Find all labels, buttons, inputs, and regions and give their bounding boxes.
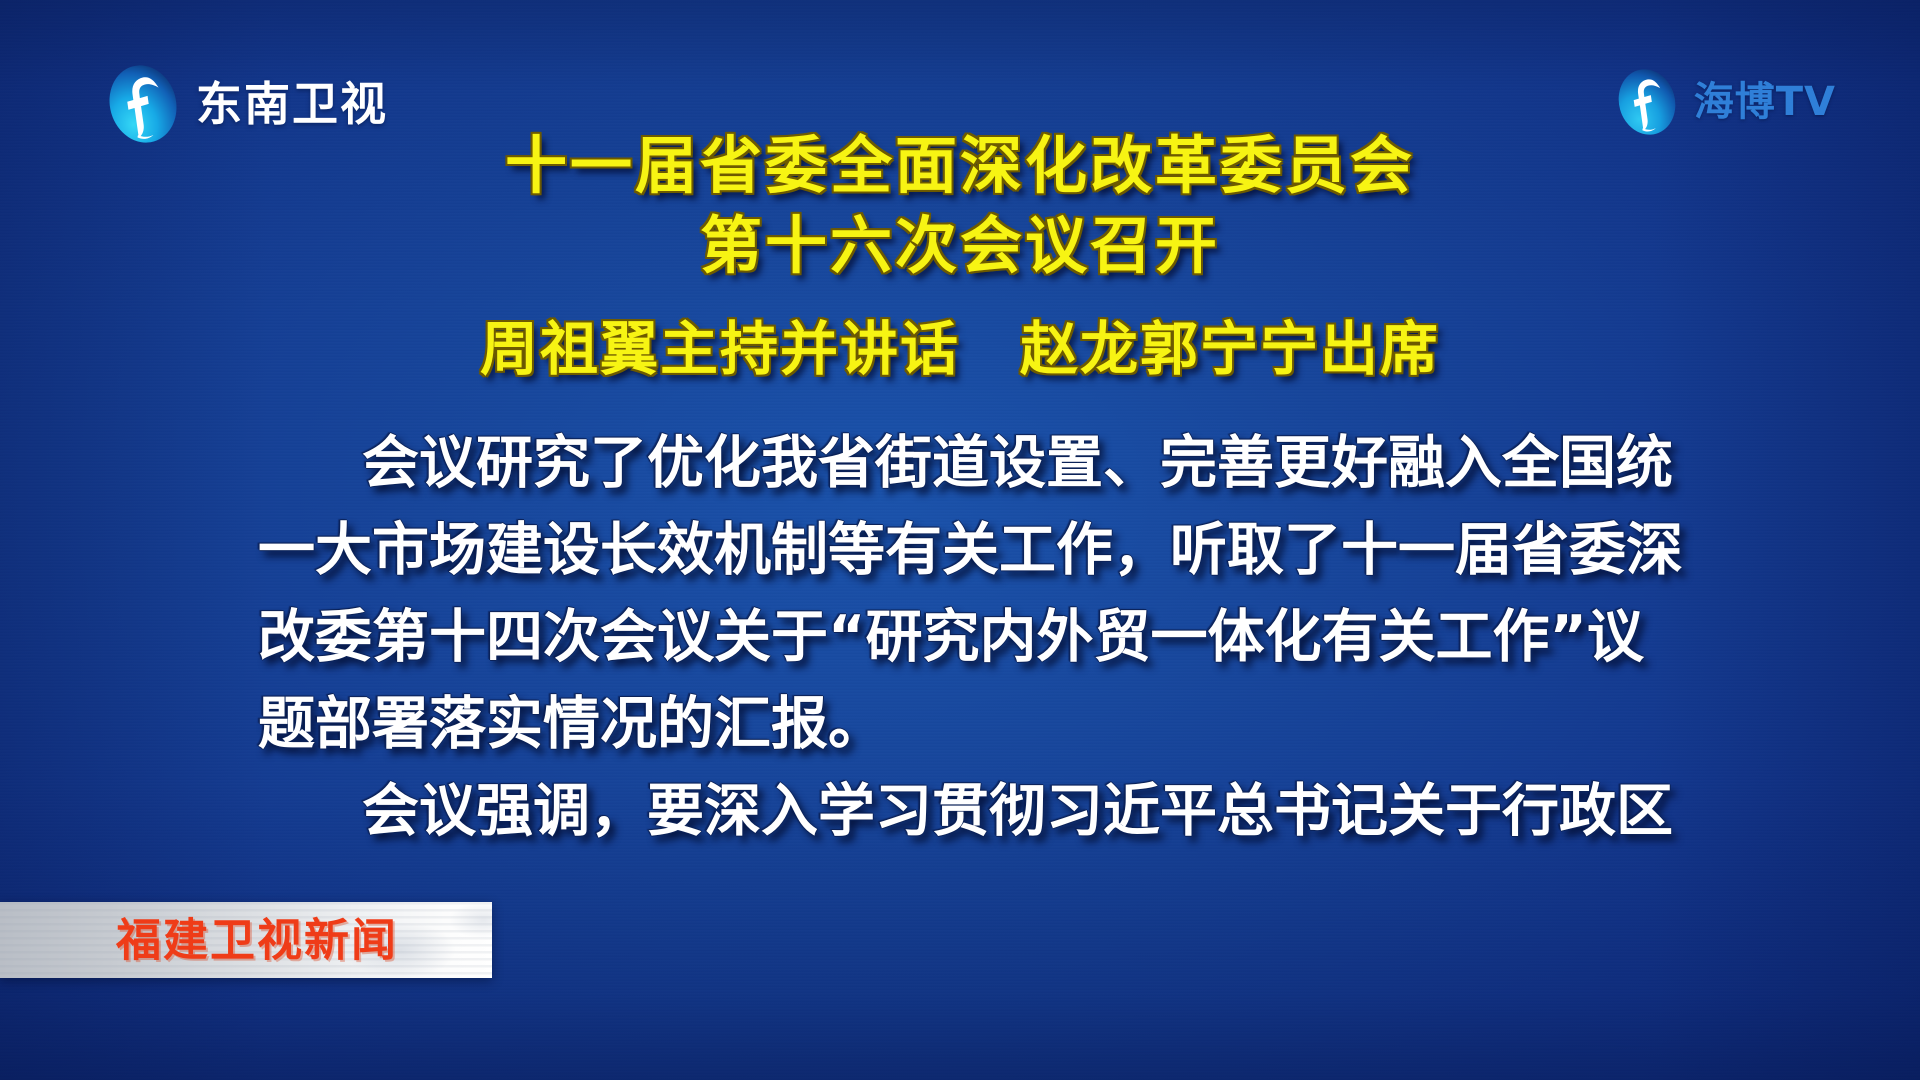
- channel-logo-right-label: 海博TV: [1694, 82, 1836, 122]
- program-banner-label: 福建卫视新闻: [116, 918, 398, 963]
- headline-line-1: 十一届省委全面深化改革委员会: [0, 126, 1920, 206]
- subheadline: 周祖翼主持并讲话 赵龙郭宁宁出席: [0, 312, 1920, 386]
- body-line-5: 会议强调，要深入学习贯彻习近平总书记关于行政区: [258, 768, 1678, 855]
- subheadline-line: 周祖翼主持并讲话 赵龙郭宁宁出席: [0, 312, 1920, 386]
- body-line-3: 改委第十四次会议关于“研究内外贸一体化有关工作”议: [258, 594, 1678, 681]
- body-line-2: 一大市场建设长效机制等有关工作，听取了十一届省委深: [258, 507, 1678, 594]
- body-line-4: 题部署落实情况的汇报。: [258, 681, 1678, 768]
- channel-logo-left-label: 东南卫视: [196, 81, 388, 127]
- program-banner: 福建卫视新闻: [0, 902, 492, 978]
- body-line-1: 会议研究了优化我省街道设置、完善更好融入全国统: [258, 420, 1678, 507]
- broadcast-news-screen: 东南卫视 海博TV: [0, 0, 1920, 1080]
- headline-line-2: 第十六次会议召开: [0, 206, 1920, 286]
- headline: 十一届省委全面深化改革委员会 第十六次会议召开: [0, 126, 1920, 286]
- body-copy: 会议研究了优化我省街道设置、完善更好融入全国统 一大市场建设长效机制等有关工作，…: [258, 420, 1678, 855]
